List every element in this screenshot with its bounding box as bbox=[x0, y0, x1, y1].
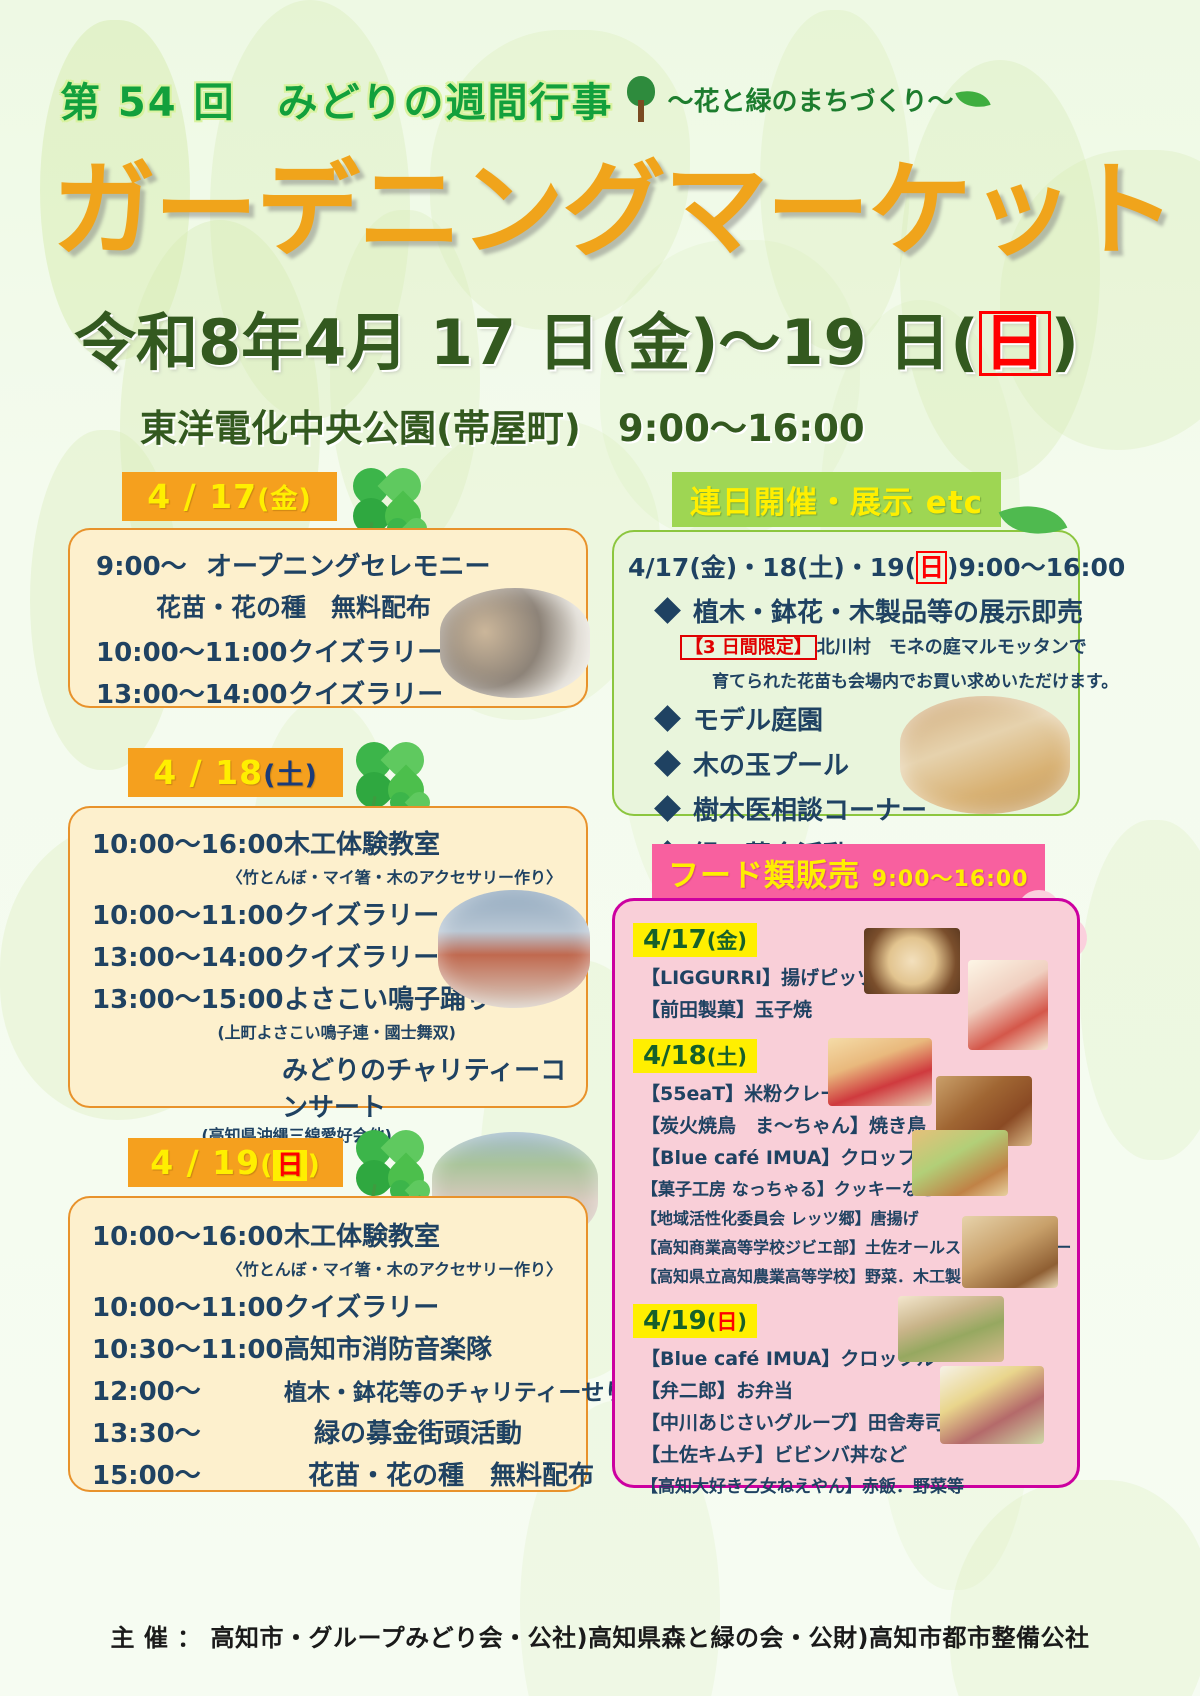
row-event: クイズラリー bbox=[288, 674, 443, 711]
event-date-suffix: ) bbox=[1051, 306, 1079, 379]
photo-assorted-dish bbox=[940, 1366, 1044, 1444]
header-line: 第 54 回 みどりの週間行事 ～花と緑のまちづくり～ bbox=[60, 68, 1140, 130]
diamond-bullet-icon bbox=[654, 750, 681, 777]
day-tab-0419-sunday: 日 bbox=[273, 1150, 307, 1181]
photo-bento bbox=[898, 1296, 1004, 1362]
food-day-0419: 4/19(日) bbox=[633, 1304, 757, 1338]
food-day-date: 4/19 bbox=[643, 1306, 707, 1336]
row-event: 花苗・花の種 無料配布 bbox=[156, 593, 431, 622]
schedule-note: 〈竹とんぼ・マイ箸・木のアクセサリー作り〉 bbox=[92, 1256, 562, 1280]
edition-title: 第 54 回 みどりの週間行事 bbox=[60, 70, 614, 128]
row-event: オープニングセレモニー bbox=[206, 546, 490, 583]
row-time: 10:00〜11:00 bbox=[92, 1287, 284, 1324]
organizer-footer: 主 催 ： 高知市・グループみどり会・公社)高知県森と緑の会・公財)高知市都市整… bbox=[0, 1618, 1200, 1653]
exhibit-bullet: 植木・鉢花・木製品等の展示即売 bbox=[658, 592, 1068, 629]
row-time: 10:30〜11:00 bbox=[92, 1329, 284, 1366]
schedule-row: 10:00〜11:00 クイズラリー bbox=[92, 1287, 572, 1324]
page-title: ガーデニングマーケット bbox=[52, 156, 1152, 265]
photo-tamagoyaki-package bbox=[968, 960, 1048, 1050]
exhibit-bullet-label: モデル庭園 bbox=[693, 700, 823, 737]
exhibit-bullet-label: 植木・鉢花・木製品等の展示即売 bbox=[693, 592, 1083, 629]
exhibit-dates-sunday: 日 bbox=[916, 551, 947, 584]
exhibit-dates-prefix: 4/17(金)・18(土)・19( bbox=[628, 553, 916, 582]
row-time: 10:00〜11:00 bbox=[92, 895, 284, 932]
food-tab-label: フード類販売 bbox=[668, 858, 860, 894]
row-event: クイズラリー bbox=[284, 895, 439, 932]
diamond-bullet-icon bbox=[654, 705, 681, 732]
schedule-card-0419: 10:00〜16:00 木工体験教室 〈竹とんぼ・マイ箸・木のアクセサリー作り〉… bbox=[68, 1196, 588, 1492]
diamond-bullet-icon bbox=[654, 597, 681, 624]
limited-badge: 【3 日間限定】 bbox=[680, 635, 817, 660]
day-tab-0419-weekday-open: ( bbox=[260, 1150, 273, 1181]
day-tab-0417-weekday: (金) bbox=[257, 484, 312, 515]
row-event: 緑の募金街頭活動 bbox=[314, 1413, 522, 1450]
food-day-0418: 4/18(土) bbox=[633, 1039, 757, 1073]
schedule-row: 15:00〜 花苗・花の種 無料配布 bbox=[92, 1455, 572, 1492]
schedule-note: (上町よさこい鳴子連・國士舞双) bbox=[92, 1019, 456, 1043]
food-item: 【高知大好き乙女ねえやん】赤飯．野菜等 bbox=[641, 1472, 1067, 1497]
row-event: 木工体験教室 bbox=[284, 1216, 440, 1253]
food-day-sunday: 日 bbox=[716, 1310, 737, 1334]
row-time: 12:00〜 bbox=[92, 1371, 284, 1408]
food-day-date: 4/17 bbox=[643, 925, 707, 955]
photo-burger bbox=[912, 1130, 1008, 1196]
photo-yosakoi-dance bbox=[438, 890, 590, 1008]
row-time: 10:00〜11:00 bbox=[96, 632, 288, 669]
day-tab-0417: 4 / 17(金) bbox=[122, 472, 337, 521]
limited-text: 北川村 モネの庭マルモッタンで bbox=[817, 637, 1087, 658]
row-time: 13:30〜 bbox=[92, 1413, 284, 1450]
event-date: 令和8年4月 17 日(金)〜19 日(日) bbox=[74, 292, 1124, 382]
row-time: 10:00〜16:00 bbox=[92, 1216, 284, 1253]
schedule-row: 10:00〜16:00 木工体験教室 bbox=[92, 824, 572, 861]
row-time: 10:00〜16:00 bbox=[92, 824, 284, 861]
food-item: 【土佐キムチ】ビビンバ丼など bbox=[641, 1440, 1067, 1467]
exhibit-bullet-label: 樹木医相談コーナー bbox=[693, 790, 927, 827]
food-day-0417: 4/17(金) bbox=[633, 923, 757, 957]
schedule-subevent: みどりのチャリティーコンサート bbox=[282, 1050, 572, 1124]
day-tab-0417-date: 4 / 17 bbox=[147, 477, 257, 516]
photo-opening-ceremony bbox=[440, 588, 590, 698]
row-time: 13:00〜15:00 bbox=[92, 979, 284, 1016]
schedule-row: 10:30〜11:00 高知市消防音楽隊 bbox=[92, 1329, 572, 1366]
schedule-row: 10:00〜16:00 木工体験教室 bbox=[92, 1216, 572, 1253]
food-day-weekday-open: ( bbox=[707, 1310, 717, 1334]
day-tab-0419-date: 4 / 19 bbox=[150, 1143, 260, 1182]
food-day-weekday: (土) bbox=[707, 1045, 747, 1069]
row-event: クイズラリー bbox=[284, 937, 439, 974]
photo-crepe bbox=[828, 1038, 932, 1106]
exhibit-dates: 4/17(金)・18(土)・19(日)9:00〜16:00 bbox=[628, 548, 1068, 584]
event-date-prefix: 令和8年4月 17 日(金)〜19 日( bbox=[74, 306, 979, 379]
photo-fried-pizza bbox=[864, 928, 960, 994]
schedule-row: 9:00〜 オープニングセレモニー bbox=[96, 546, 572, 583]
exhibit-tab: 連日開催・展示 etc bbox=[672, 472, 1001, 527]
row-time: 15:00〜 bbox=[92, 1455, 284, 1492]
exhibit-bullet-label: 木の玉プール bbox=[693, 745, 849, 782]
row-time: 13:00〜14:00 bbox=[96, 674, 288, 711]
row-event: 高知市消防音楽隊 bbox=[284, 1329, 492, 1366]
leaf-icon bbox=[955, 84, 990, 114]
food-day-date: 4/18 bbox=[643, 1041, 707, 1071]
day-tab-0419: 4 / 19(日) bbox=[128, 1138, 343, 1187]
exhibit-limited-line: 【3 日間限定】北川村 モネの庭マルモッタンで bbox=[680, 633, 1068, 659]
day-tab-0418-weekday: (土) bbox=[263, 760, 318, 791]
diamond-bullet-icon bbox=[654, 795, 681, 822]
food-day-weekday-close: ) bbox=[737, 1310, 747, 1334]
tree-icon bbox=[624, 76, 658, 122]
tagline: ～花と緑のまちづくり～ bbox=[668, 81, 954, 118]
food-day-weekday: (金) bbox=[707, 929, 747, 953]
row-event: 木工体験教室 bbox=[284, 824, 440, 861]
venue-line: 東洋電化中央公園(帯屋町) 9:00〜16:00 bbox=[140, 398, 1090, 452]
schedule-row: 13:30〜 緑の募金街頭活動 bbox=[92, 1413, 572, 1450]
event-date-sunday: 日 bbox=[979, 311, 1051, 376]
row-time: 13:00〜14:00 bbox=[92, 937, 284, 974]
row-event: 花苗・花の種 無料配布 bbox=[308, 1455, 594, 1492]
schedule-row: 12:00〜 植木・鉢花等のチャリティーせり bbox=[92, 1371, 572, 1408]
row-time: 9:00〜 bbox=[96, 546, 206, 583]
schedule-note: 〈竹とんぼ・マイ箸・木のアクセサリー作り〉 bbox=[92, 864, 562, 888]
day-tab-0419-weekday-close: ) bbox=[307, 1150, 320, 1181]
day-tab-0418-date: 4 / 18 bbox=[153, 753, 263, 792]
row-event: クイズラリー bbox=[288, 632, 443, 669]
row-event: 植木・鉢花等のチャリティーせり bbox=[284, 1373, 627, 1407]
exhibit-tab-label: 連日開催・展示 etc bbox=[690, 485, 983, 521]
food-tab-time: 9:00〜16:00 bbox=[872, 867, 1029, 892]
photo-sandwich bbox=[962, 1216, 1058, 1288]
day-tab-0418: 4 / 18(土) bbox=[128, 748, 343, 797]
photo-wood-ball-pool bbox=[900, 696, 1070, 814]
exhibit-dates-suffix: )9:00〜16:00 bbox=[947, 553, 1125, 582]
exhibit-limited-line2: 育てられた花苗も会場内でお買い求めいただけます。 bbox=[712, 667, 1068, 692]
row-event: クイズラリー bbox=[284, 1287, 439, 1324]
